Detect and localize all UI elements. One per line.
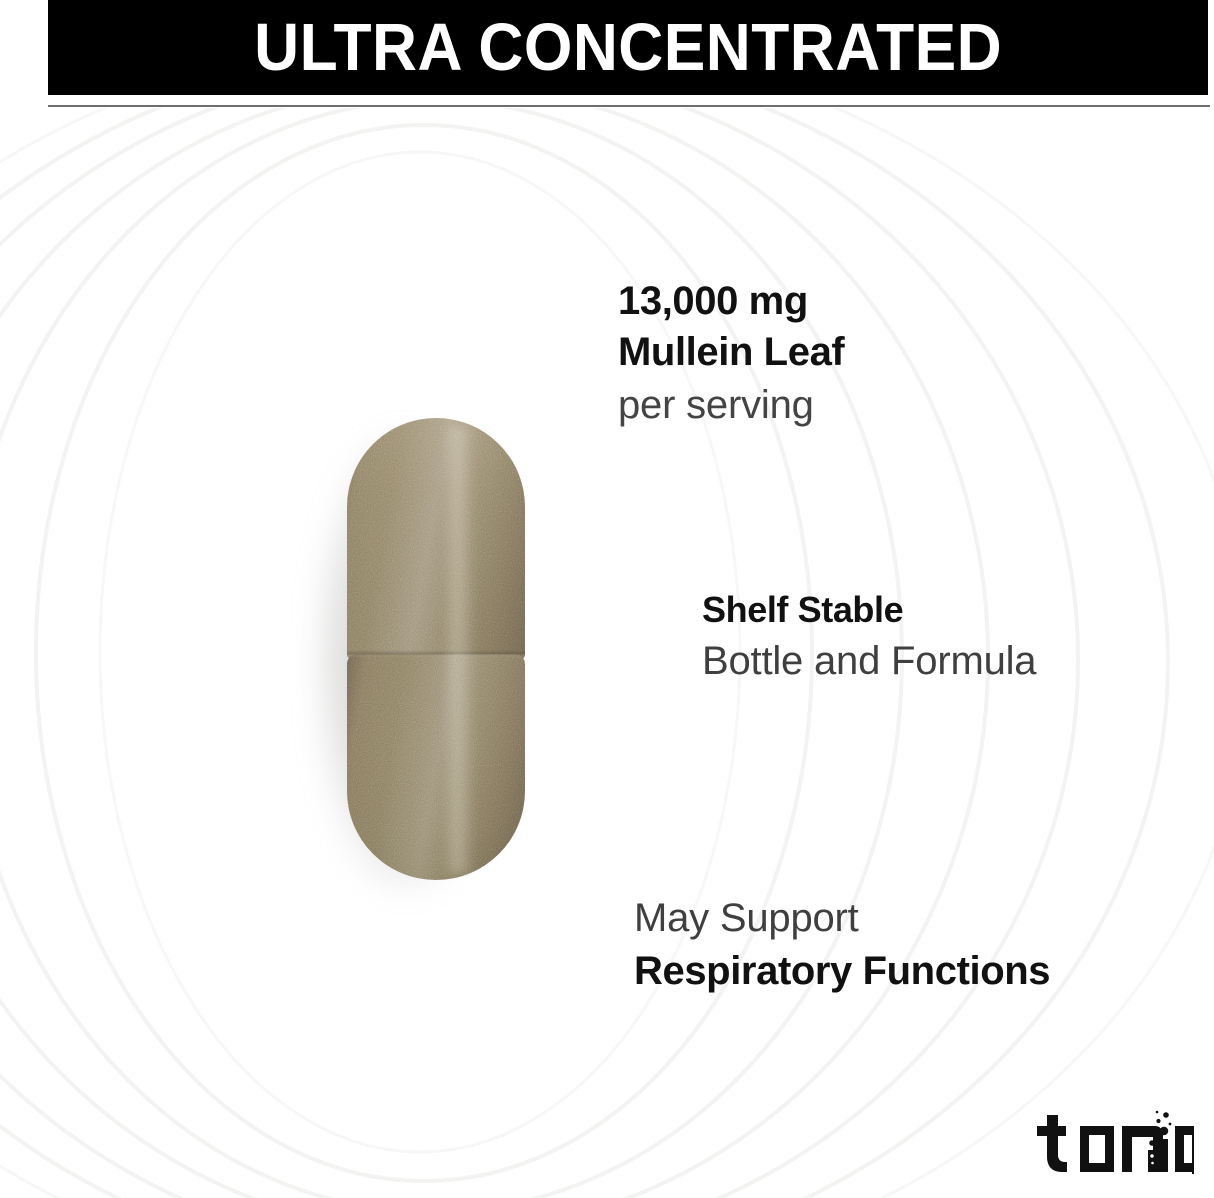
dose-qualifier: per serving (618, 378, 844, 433)
capsule-seam-line (347, 650, 525, 658)
feature-block-shelf-stable: Shelf Stable Bottle and Formula (702, 586, 1036, 688)
toniiq-brand-logo (1034, 1104, 1194, 1174)
header-banner: ULTRA CONCENTRATED (48, 0, 1208, 95)
dose-amount: 13,000 mg (618, 276, 844, 327)
page-title: ULTRA CONCENTRATED (254, 14, 1002, 81)
feature-block-support: May Support Respiratory Functions (634, 892, 1050, 998)
capsule-cap-half (347, 418, 525, 660)
shelf-subline: Bottle and Formula (702, 634, 1036, 688)
support-headline: May Support (634, 892, 1050, 944)
shelf-headline: Shelf Stable (702, 586, 1036, 634)
header-divider-rule (48, 105, 1210, 107)
product-infographic: ULTRA CONCENTRATED (0, 0, 1214, 1198)
feature-block-dose: 13,000 mg Mullein Leaf per serving (618, 276, 844, 433)
capsule-body (347, 418, 525, 880)
support-subline: Respiratory Functions (634, 944, 1050, 998)
capsule-body-half (347, 654, 525, 880)
dose-ingredient: Mullein Leaf (618, 327, 844, 378)
capsule-image (300, 405, 580, 905)
